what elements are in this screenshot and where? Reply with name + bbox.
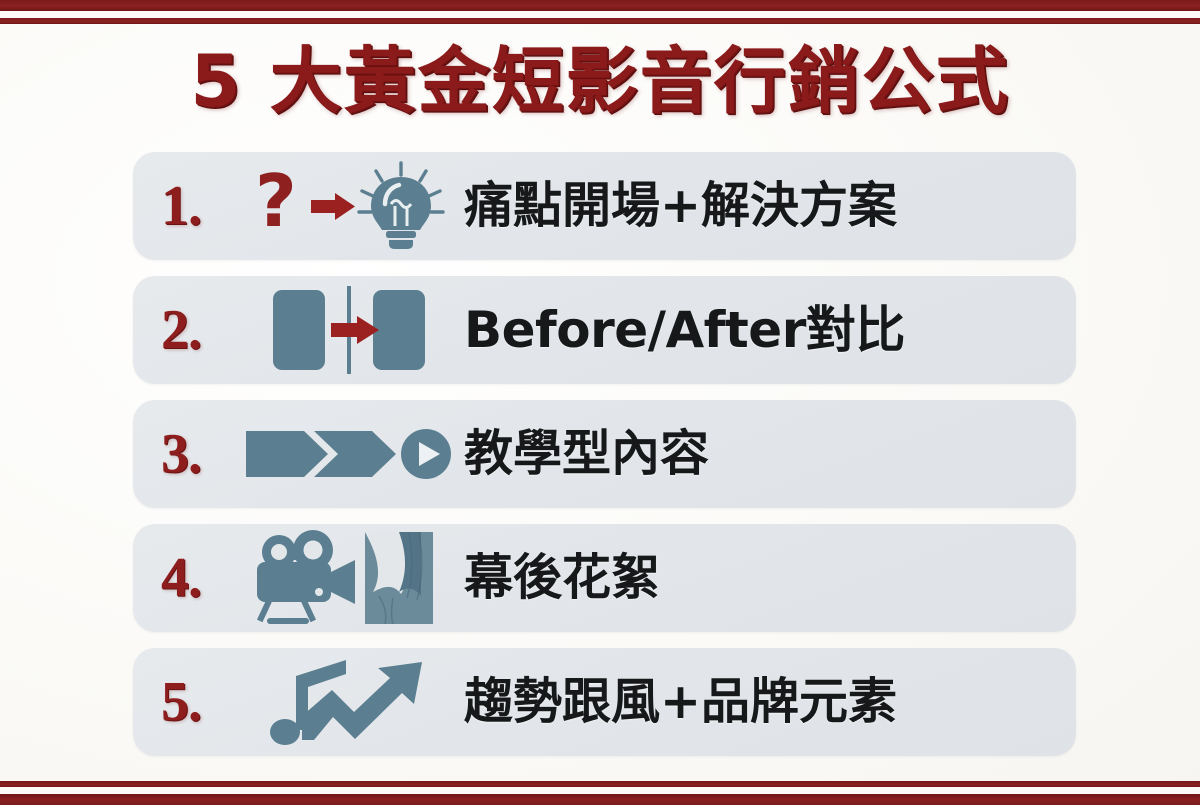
- item-label: 痛點開場+解決方案: [456, 180, 1076, 231]
- page-title: 5 大黃金短影音行銷公式: [0, 36, 1200, 126]
- item-number: 1.: [133, 178, 241, 234]
- movie-camera-curtain-icon: [241, 524, 456, 632]
- list-item[interactable]: 2. Before/After對比: [133, 276, 1076, 384]
- item-label: 趨勢跟風+品牌元素: [456, 676, 1076, 727]
- top-border-thick: [0, 0, 1200, 11]
- item-number: 5.: [133, 674, 241, 730]
- music-trend-arrow-icon: [241, 648, 456, 756]
- svg-text:?: ?: [255, 160, 297, 243]
- item-number: 3.: [133, 426, 241, 482]
- list-item[interactable]: 4.: [133, 524, 1076, 632]
- bottom-border-thick: [0, 794, 1200, 805]
- formula-list: 1. ?: [133, 152, 1076, 756]
- list-item[interactable]: 1. ?: [133, 152, 1076, 260]
- item-label: 教學型內容: [456, 428, 1076, 479]
- steps-play-icon: [241, 400, 456, 508]
- poster-canvas: 5 大黃金短影音行銷公式 1. ?: [0, 0, 1200, 805]
- before-after-compare-icon: [241, 276, 456, 384]
- top-border-thin: [0, 18, 1200, 24]
- list-item[interactable]: 5. 趨勢跟風+品牌元素: [133, 648, 1076, 756]
- bottom-border-gap: [0, 787, 1200, 794]
- item-number: 4.: [133, 550, 241, 606]
- item-label: 幕後花絮: [456, 552, 1076, 603]
- question-to-lightbulb-icon: ?: [241, 152, 456, 260]
- item-label: Before/After對比: [456, 304, 1076, 357]
- item-number: 2.: [133, 302, 241, 358]
- top-border-gap: [0, 11, 1200, 18]
- list-item[interactable]: 3. 教學型內容: [133, 400, 1076, 508]
